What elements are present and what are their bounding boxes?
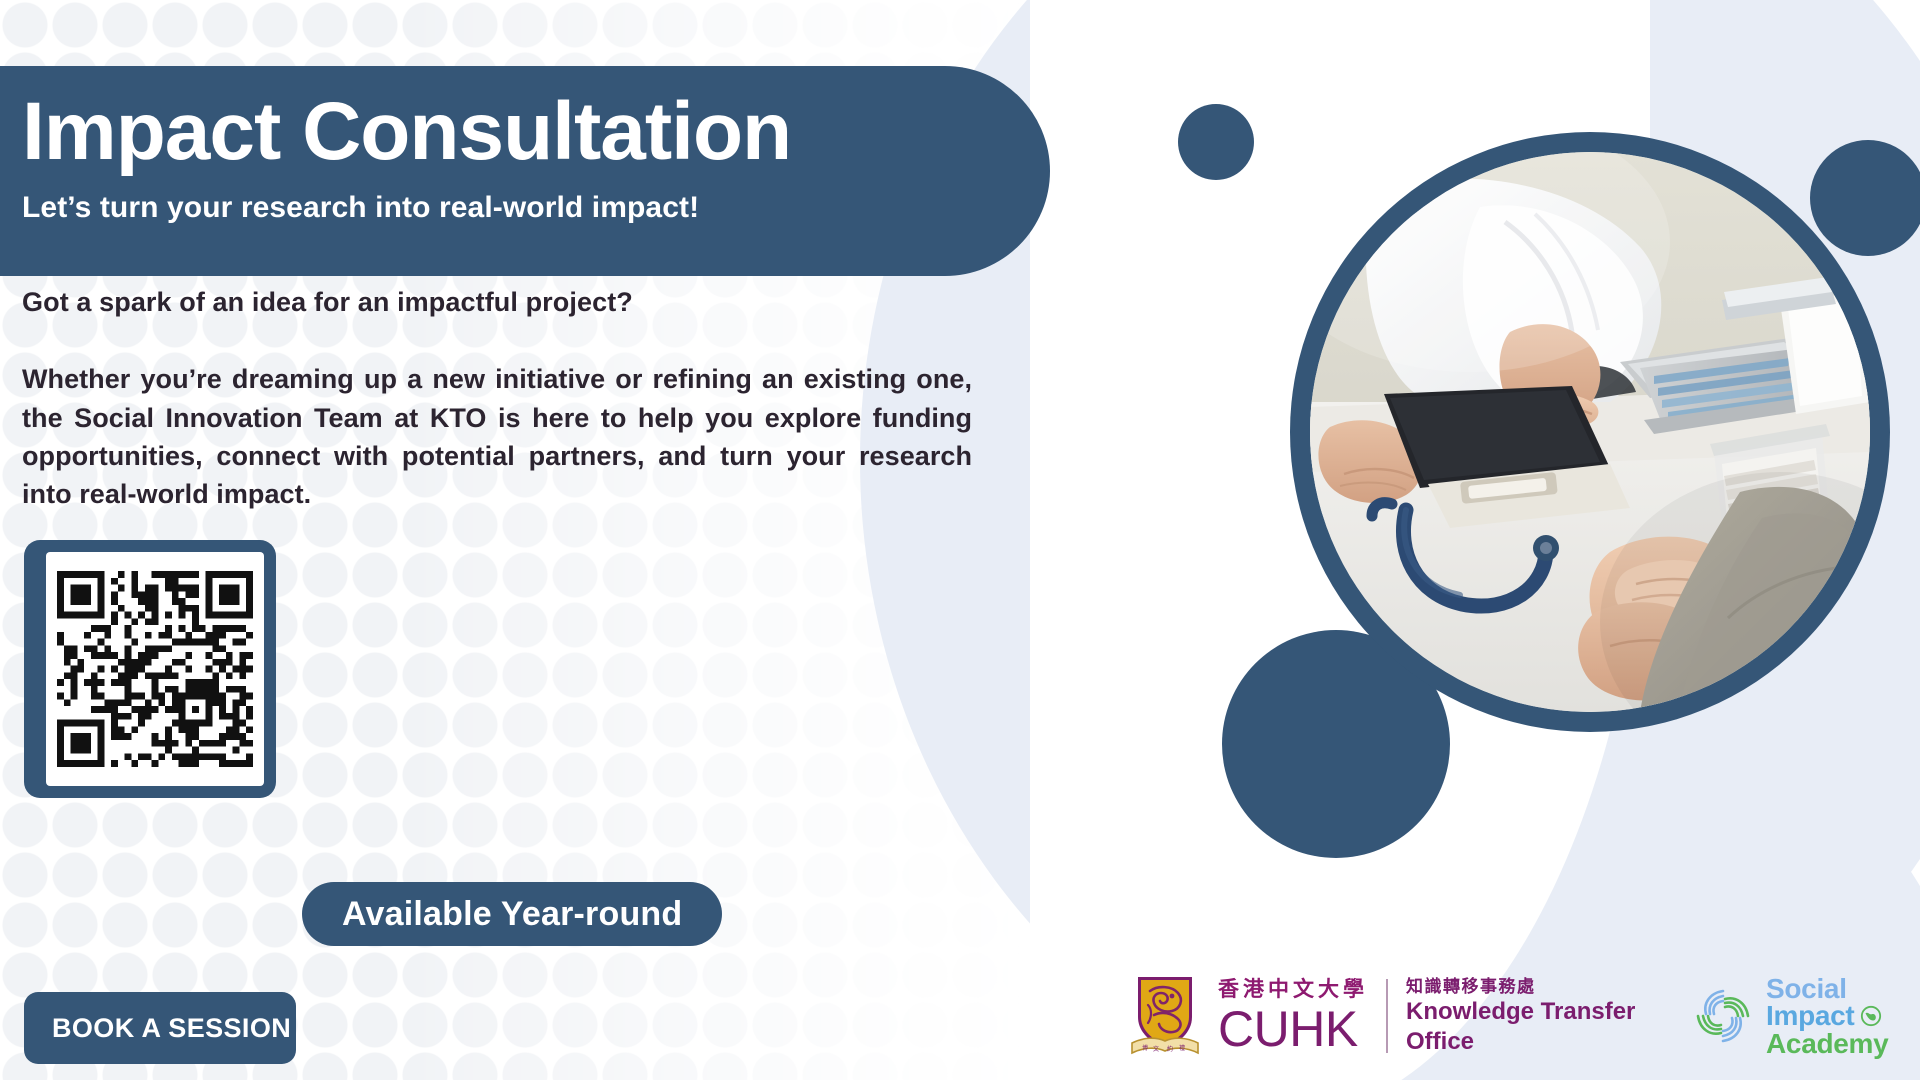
- svg-text:文: 文: [1153, 1045, 1159, 1053]
- social-impact-academy-swirl-icon: [1690, 983, 1756, 1049]
- globe-icon: [1860, 1005, 1882, 1027]
- kto-english-line1: Knowledge Transfer: [1406, 998, 1635, 1026]
- kto-chinese-name: 知識轉移事務處: [1406, 977, 1635, 997]
- svg-text:約: 約: [1167, 1045, 1173, 1053]
- page-title: Impact Consultation: [22, 88, 1010, 177]
- header-panel: Impact Consultation Let’s turn your rese…: [0, 66, 1050, 276]
- sia-line-social: Social: [1766, 975, 1888, 1002]
- qr-code-inner[interactable]: [46, 552, 264, 786]
- cuhk-english-name: CUHK: [1218, 1004, 1368, 1054]
- accent-circle-top-left: [1178, 104, 1254, 180]
- consultation-photo: [1310, 152, 1870, 712]
- book-a-session-button[interactable]: BOOK A SESSION: [24, 992, 296, 1064]
- cuhk-kto-logo: 博文約禮 香港中文大學 CUHK 知識轉移事務處 Knowledge Trans…: [1128, 968, 1635, 1064]
- book-a-session-label: BOOK A SESSION: [52, 1013, 291, 1044]
- social-impact-academy-wordmark: Social Impact Academy: [1766, 975, 1888, 1057]
- cuhk-logo-text: 香港中文大學 CUHK 知識轉移事務處 Knowledge Transfer O…: [1218, 977, 1635, 1056]
- availability-badge-label: Available Year-round: [342, 895, 682, 934]
- social-impact-academy-logo: Social Impact Academy: [1690, 968, 1888, 1064]
- sia-impact-text: Impact: [1766, 1002, 1854, 1029]
- page-subtitle: Let’s turn your research into real-world…: [22, 191, 1010, 225]
- cuhk-crest-icon: 博文約禮: [1128, 971, 1202, 1061]
- body-copy: Got a spark of an idea for an impactful …: [22, 284, 972, 514]
- qr-code-frame[interactable]: [24, 540, 276, 798]
- accent-circle-top-right: [1810, 140, 1920, 256]
- lead-question: Got a spark of an idea for an impactful …: [22, 284, 972, 320]
- qr-code-image[interactable]: [57, 571, 253, 767]
- availability-badge: Available Year-round: [302, 882, 722, 946]
- poster-canvas: Impact Consultation Let’s turn your rese…: [0, 0, 1920, 1080]
- logo-divider: [1386, 979, 1388, 1053]
- kto-english-line2: Office: [1406, 1028, 1635, 1056]
- cuhk-chinese-name: 香港中文大學: [1218, 978, 1368, 1001]
- description-paragraph: Whether you’re dreaming up a new initiat…: [22, 360, 972, 513]
- svg-text:博: 博: [1142, 1044, 1148, 1052]
- sia-line-impact: Impact: [1766, 1002, 1888, 1029]
- svg-text:禮: 禮: [1179, 1044, 1185, 1052]
- sia-line-academy: Academy: [1766, 1030, 1888, 1057]
